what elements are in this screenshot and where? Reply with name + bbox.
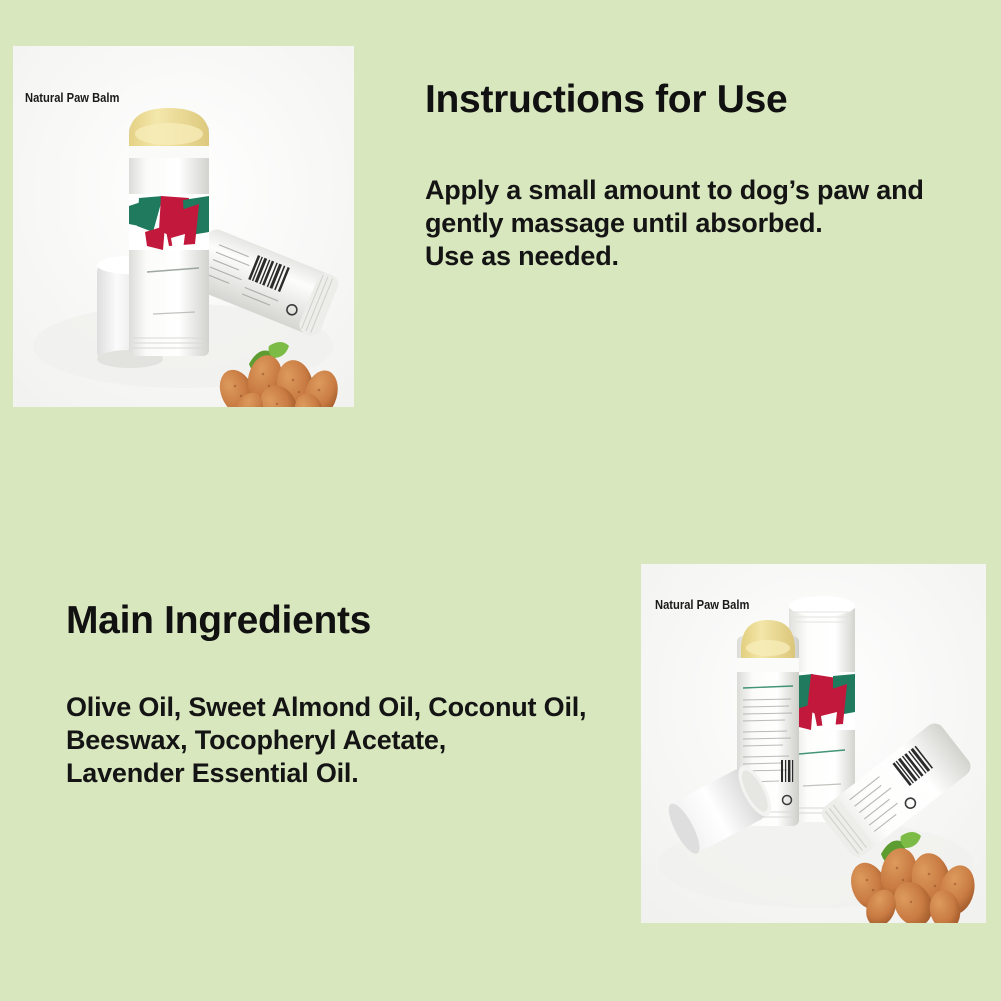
- photo-caption-top: Natural Paw Balm: [25, 90, 119, 105]
- ingredients-line-2: Beeswax, Tocopheryl Acetate,: [66, 724, 586, 757]
- infographic-page: Natural Paw Balm Instructions for Use Ap…: [0, 0, 1001, 1001]
- product-photo-bottom: [641, 564, 986, 923]
- ingredients-body: Olive Oil, Sweet Almond Oil, Coconut Oil…: [66, 691, 586, 790]
- instructions-line-2: gently massage until absorbed.: [425, 207, 924, 240]
- instructions-title: Instructions for Use: [425, 78, 787, 122]
- ingredients-title: Main Ingredients: [66, 599, 371, 643]
- instructions-line-3: Use as needed.: [425, 240, 924, 273]
- ingredients-line-3: Lavender Essential Oil.: [66, 757, 586, 790]
- instructions-line-1: Apply a small amount to dog’s paw and: [425, 174, 924, 207]
- photo-caption-bottom: Natural Paw Balm: [655, 597, 749, 612]
- ingredients-line-1: Olive Oil, Sweet Almond Oil, Coconut Oil…: [66, 691, 586, 724]
- instructions-body: Apply a small amount to dog’s paw and ge…: [425, 174, 924, 273]
